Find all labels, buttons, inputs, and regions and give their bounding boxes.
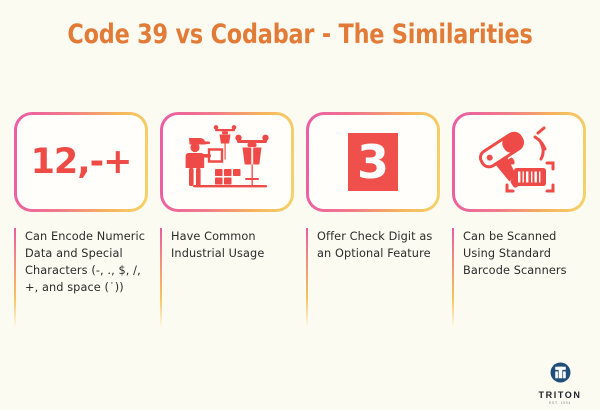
triton-tagline: EST. 1994 bbox=[537, 402, 583, 405]
card-caption: Have Common Industrial Usage bbox=[171, 228, 294, 262]
numeric-special-characters-icon: 12,-+ bbox=[17, 115, 145, 209]
check-digit-three-icon: 3 bbox=[309, 115, 437, 209]
drone-worker-illustration bbox=[175, 123, 279, 201]
digit-tile: 3 bbox=[348, 133, 398, 191]
caption-block: Have Common Industrial Usage bbox=[160, 228, 294, 328]
gradient-divider bbox=[452, 228, 454, 328]
card-caption: Can be Scanned Using Standard Barcode Sc… bbox=[463, 228, 586, 279]
scanner-gun-illustration bbox=[469, 123, 569, 201]
triton-wordmark: TRITON bbox=[537, 391, 583, 400]
digit-value: 3 bbox=[357, 139, 389, 185]
card-caption: Can Encode Numeric Data and Special Char… bbox=[25, 228, 148, 296]
gradient-divider bbox=[14, 228, 16, 328]
icon-box bbox=[452, 112, 586, 212]
card-caption: Offer Check Digit as an Optional Feature bbox=[317, 228, 440, 262]
icon-box: 3 bbox=[306, 112, 440, 212]
page-title: Code 39 vs Codabar - The Similarities bbox=[24, 19, 576, 50]
caption-block: Can Encode Numeric Data and Special Char… bbox=[14, 228, 148, 328]
triton-mark-icon bbox=[550, 362, 571, 383]
icon-box: 12,-+ bbox=[14, 112, 148, 212]
barcode-scanner-icon bbox=[455, 115, 583, 209]
gradient-divider bbox=[306, 228, 308, 328]
similarity-card: 3 Offer Check Digit as an Optional Featu… bbox=[306, 112, 440, 328]
caption-block: Can be Scanned Using Standard Barcode Sc… bbox=[452, 228, 586, 328]
similarity-card: Have Common Industrial Usage bbox=[160, 112, 294, 328]
gradient-divider bbox=[160, 228, 162, 328]
icon-box bbox=[160, 112, 294, 212]
infographic-canvas: Code 39 vs Codabar - The Similarities 12… bbox=[0, 0, 600, 410]
icon-character-text: 12,-+ bbox=[31, 145, 132, 180]
similarity-card: Can be Scanned Using Standard Barcode Sc… bbox=[452, 112, 586, 328]
similarity-cards-row: 12,-+ Can Encode Numeric Data and Specia… bbox=[14, 112, 586, 328]
caption-block: Offer Check Digit as an Optional Feature bbox=[306, 228, 440, 328]
similarity-card: 12,-+ Can Encode Numeric Data and Specia… bbox=[14, 112, 148, 328]
triton-logo: TRITON EST. 1994 bbox=[537, 362, 583, 405]
industrial-drone-delivery-icon bbox=[163, 115, 291, 209]
